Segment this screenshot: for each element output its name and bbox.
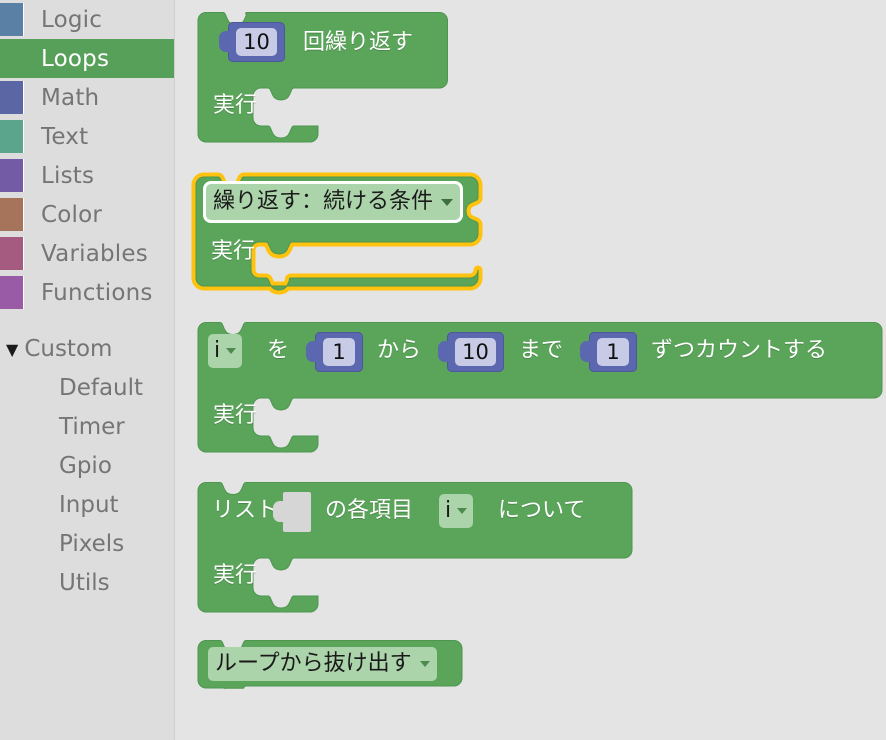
for-each-item-block[interactable]: リスト の各項目 i について 実行 [198, 482, 633, 612]
category-label: Custom [24, 336, 112, 362]
toolbox-tree-custom: ▼ Custom Default Timer Gpio Input Pixels… [0, 329, 174, 602]
number-input-block[interactable]: 10 [228, 22, 285, 62]
toolbox-category-color[interactable]: Color [0, 195, 174, 234]
category-color-swatch [0, 3, 24, 36]
toolbox-category-variables[interactable]: Variables [0, 234, 174, 273]
toolbox-category-custom[interactable]: ▼ Custom [0, 329, 174, 368]
chevron-down-icon[interactable] [441, 199, 453, 206]
empty-value-input-socket[interactable] [283, 492, 311, 532]
text-each-item: の各項目 [325, 500, 413, 522]
category-label: Gpio [59, 453, 112, 479]
text-kara: から [377, 340, 421, 362]
dropdown-value: i [214, 340, 220, 362]
category-label: Functions [41, 280, 153, 306]
triangle-down-icon[interactable]: ▼ [6, 342, 18, 358]
do-label: 実行 [213, 565, 257, 587]
blockly-flyout[interactable]: 10 回繰り返す 実行 繰り返す：続ける条件 [175, 0, 886, 740]
toolbox-category-input[interactable]: Input [0, 485, 174, 524]
dropdown-value: i [445, 500, 451, 522]
toolbox-category-loops[interactable]: Loops [0, 39, 174, 78]
blockly-toolbox[interactable]: Logic Loops Math Text Lists Color Variab… [0, 0, 175, 740]
toolbox-category-pixels[interactable]: Pixels [0, 524, 174, 563]
text-wo: を [267, 340, 289, 362]
from-number-block[interactable]: 1 [315, 332, 363, 372]
repeat-times-block[interactable]: 10 回繰り返す 実行 [198, 12, 448, 142]
category-color-swatch [0, 159, 24, 192]
repeat-while-block[interactable]: 繰り返す：続ける条件 実行 [193, 172, 513, 294]
category-label: Input [59, 492, 119, 518]
category-label: Timer [59, 414, 125, 440]
dropdown-value: 繰り返す：続ける条件 [213, 191, 433, 213]
do-label: 実行 [211, 241, 255, 263]
loop-variable-dropdown[interactable]: i [208, 334, 242, 368]
category-label: Utils [59, 570, 110, 596]
toolbox-category-gpio[interactable]: Gpio [0, 446, 174, 485]
toolbox-category-lists[interactable]: Lists [0, 156, 174, 195]
toolbox-category-timer[interactable]: Timer [0, 407, 174, 446]
text-list: リスト [212, 500, 278, 522]
flyout-block-canvas: 10 回繰り返す 実行 繰り返す：続ける条件 [175, 0, 886, 740]
toolbox-category-math[interactable]: Math [0, 78, 174, 117]
toolbox-category-logic[interactable]: Logic [0, 0, 174, 39]
chevron-down-icon[interactable] [420, 661, 430, 667]
chevron-down-icon[interactable] [226, 348, 236, 354]
break-out-of-loop-block[interactable]: ループから抜け出す [198, 640, 463, 688]
category-color-swatch [0, 237, 24, 270]
text-made: まで [519, 340, 563, 362]
chevron-down-icon[interactable] [457, 508, 467, 514]
toolbox-category-utils[interactable]: Utils [0, 563, 174, 602]
number-field[interactable]: 10 [236, 28, 277, 56]
category-label: Color [41, 202, 102, 228]
category-color-swatch [0, 81, 24, 114]
category-label: Pixels [59, 531, 124, 557]
dropdown-value: ループから抜け出す [215, 653, 412, 675]
count-with-block[interactable]: i を 1 から 10 まで 1 ずつカウントする 実行 [198, 322, 883, 452]
do-label: 実行 [213, 95, 257, 117]
number-field[interactable]: 1 [597, 338, 629, 366]
toolbox-category-default[interactable]: Default [0, 368, 174, 407]
category-label: Math [41, 85, 99, 111]
category-color-swatch [0, 276, 24, 309]
repeat-times-label: 回繰り返す [303, 32, 413, 54]
blockly-workspace: Logic Loops Math Text Lists Color Variab… [0, 0, 886, 740]
to-number-block[interactable]: 10 [447, 332, 504, 372]
toolbox-category-text[interactable]: Text [0, 117, 174, 156]
toolbox-category-functions[interactable]: Functions [0, 273, 174, 312]
category-label: Variables [41, 241, 148, 267]
category-color-swatch [0, 120, 24, 153]
category-label: Loops [41, 46, 109, 72]
flow-statement-dropdown[interactable]: ループから抜け出す [208, 647, 437, 681]
category-label: Logic [41, 7, 102, 33]
category-color-swatch [0, 198, 24, 231]
number-field[interactable]: 1 [323, 338, 355, 366]
text-about: について [498, 500, 585, 522]
do-label: 実行 [213, 405, 257, 427]
count-tail-label: ずつカウントする [651, 340, 827, 362]
category-label: Text [41, 124, 88, 150]
step-number-block[interactable]: 1 [589, 332, 637, 372]
category-label: Lists [41, 163, 94, 189]
number-field[interactable]: 10 [455, 338, 496, 366]
category-label: Default [59, 375, 143, 401]
each-variable-dropdown[interactable]: i [439, 494, 473, 528]
loop-mode-dropdown[interactable]: 繰り返す：続ける条件 [206, 184, 460, 220]
